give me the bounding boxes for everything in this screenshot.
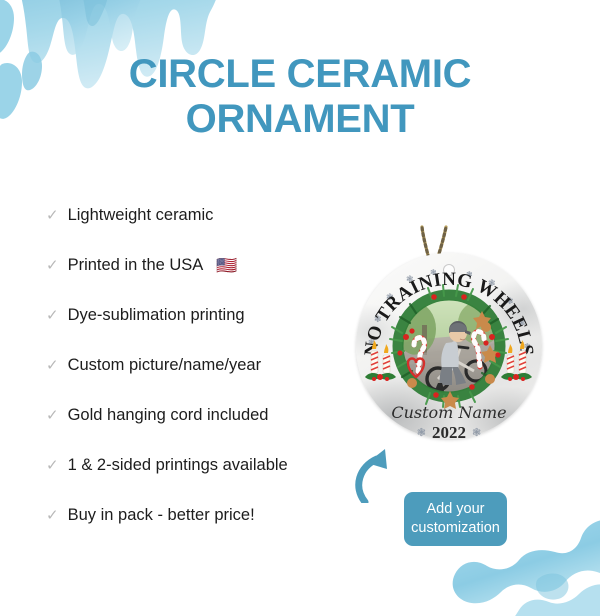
candle-pair-icon-right (496, 335, 538, 387)
christmas-wreath-icon (386, 283, 512, 409)
feature-item: ✓ Gold hanging cord included (46, 390, 346, 440)
feature-label: Gold hanging cord included (68, 406, 269, 425)
feature-label: Buy in pack - better price! (68, 506, 255, 525)
page-title-line-2: ORNAMENT (186, 97, 415, 141)
ornament-year-row: ❃ 2022 ❃ (356, 423, 542, 443)
snowflake-icon: ❃ (472, 428, 481, 439)
check-mark-icon: ✓ (46, 458, 59, 473)
add-customization-button[interactable]: Add your customization (404, 492, 507, 546)
check-mark-icon: ✓ (46, 208, 59, 223)
snowflake-icon: ❃ (417, 428, 426, 439)
feature-item: ✓ 1 & 2-sided printings available (46, 440, 346, 490)
ornament-year: 2022 (432, 423, 466, 443)
feature-item: ✓ Dye-sublimation printing (46, 290, 346, 340)
feature-label: 1 & 2-sided printings available (68, 456, 288, 475)
check-mark-icon: ✓ (46, 508, 59, 523)
cta-line-1: Add your (426, 501, 484, 517)
check-mark-icon: ✓ (46, 408, 59, 423)
feature-item: ✓ Lightweight ceramic (46, 190, 346, 240)
check-mark-icon: ✓ (46, 308, 59, 323)
feature-label: Printed in the USA (68, 256, 204, 275)
product-ornament-image: ❃ ❃ ❃ ❃ ❃ ❃ ❃ ❃ ❃ ❃ NO TRAINING WHEELS (356, 225, 546, 440)
page-title-line-1: CIRCLE CERAMIC (129, 52, 471, 96)
feature-item: ✓ Custom picture/name/year (46, 340, 346, 390)
candle-pair-icon-left (360, 335, 402, 387)
feature-list: ✓ Lightweight ceramic ✓ Printed in the U… (46, 190, 346, 540)
cta-line-2: customization (411, 520, 500, 536)
feature-label: Dye-sublimation printing (68, 306, 245, 325)
feature-label: Custom picture/name/year (68, 356, 262, 375)
ornament-custom-name: Custom Name (356, 403, 542, 422)
feature-item: ✓ Buy in pack - better price! (46, 490, 346, 540)
curved-up-arrow-icon (355, 447, 401, 503)
feature-item: ✓ Printed in the USA 🇺🇸 (46, 240, 346, 290)
check-mark-icon: ✓ (46, 358, 59, 373)
us-flag-icon: 🇺🇸 (216, 257, 237, 274)
page-title: CIRCLE CERAMIC ORNAMENT (100, 52, 500, 142)
check-mark-icon: ✓ (46, 258, 59, 273)
feature-label: Lightweight ceramic (68, 206, 214, 225)
